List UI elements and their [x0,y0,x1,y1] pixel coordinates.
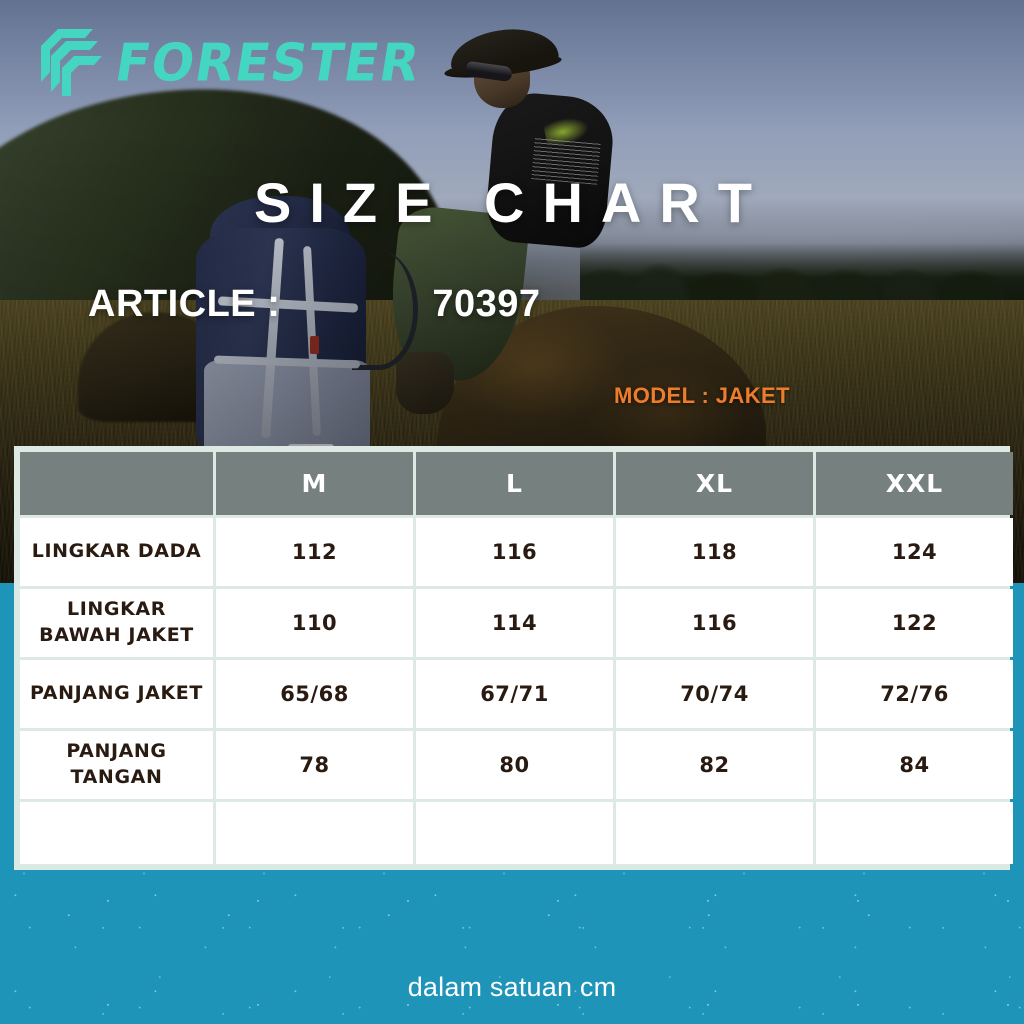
cell-value: 118 [616,518,813,586]
column-header-l: L [416,452,613,515]
forester-f-mark-icon [38,26,110,100]
cell-value: 70/74 [616,660,813,728]
row-label: PANJANG TANGAN [20,731,213,799]
cell-value [216,802,413,864]
page-title: SIZE CHART [0,175,1024,231]
table-row: PANJANG TANGAN 78 80 82 84 [20,731,1013,799]
row-label: LINGKAR DADA [20,518,213,586]
row-label: LINGKAR BAWAH JAKET [20,589,213,657]
cell-value: 78 [216,731,413,799]
size-chart-page: FORESTER SIZE CHART ARTICLE : 70397 MODE… [0,0,1024,1024]
cell-value: 84 [816,731,1013,799]
table-row: PANJANG JAKET 65/68 67/71 70/74 72/76 [20,660,1013,728]
table-row: LINGKAR BAWAH JAKET 110 114 116 122 [20,589,1013,657]
column-header-xl: XL [616,452,813,515]
column-header-m: M [216,452,413,515]
size-table: M L XL XXL LINGKAR DADA 112 116 118 124 … [17,449,1016,867]
cell-value: 72/76 [816,660,1013,728]
cell-value: 122 [816,589,1013,657]
cell-value: 67/71 [416,660,613,728]
unit-note: dalam satuan cm [0,972,1024,1003]
cell-value: 110 [216,589,413,657]
cell-value: 112 [216,518,413,586]
cell-value: 116 [616,589,813,657]
column-header-measurement [20,452,213,515]
article-label: ARTICLE : [88,283,280,326]
cell-value [616,802,813,864]
cell-value [416,802,613,864]
brand-wordmark: FORESTER [112,37,424,89]
model-label: MODEL : JAKET [614,383,790,409]
row-label [20,802,213,864]
cell-value: 116 [416,518,613,586]
article-value: 70397 [432,283,540,326]
table-header-row: M L XL XXL [20,452,1013,515]
cell-value: 82 [616,731,813,799]
cell-value: 114 [416,589,613,657]
size-table-container: M L XL XXL LINGKAR DADA 112 116 118 124 … [14,446,1010,870]
cell-value [816,802,1013,864]
cell-value: 124 [816,518,1013,586]
row-label: PANJANG JAKET [20,660,213,728]
column-header-xxl: XXL [816,452,1013,515]
table-row [20,802,1013,864]
article-row: ARTICLE : 70397 [88,283,628,326]
cell-value: 65/68 [216,660,413,728]
table-row: LINGKAR DADA 112 116 118 124 [20,518,1013,586]
brand-logo: FORESTER [38,26,420,100]
cell-value: 80 [416,731,613,799]
